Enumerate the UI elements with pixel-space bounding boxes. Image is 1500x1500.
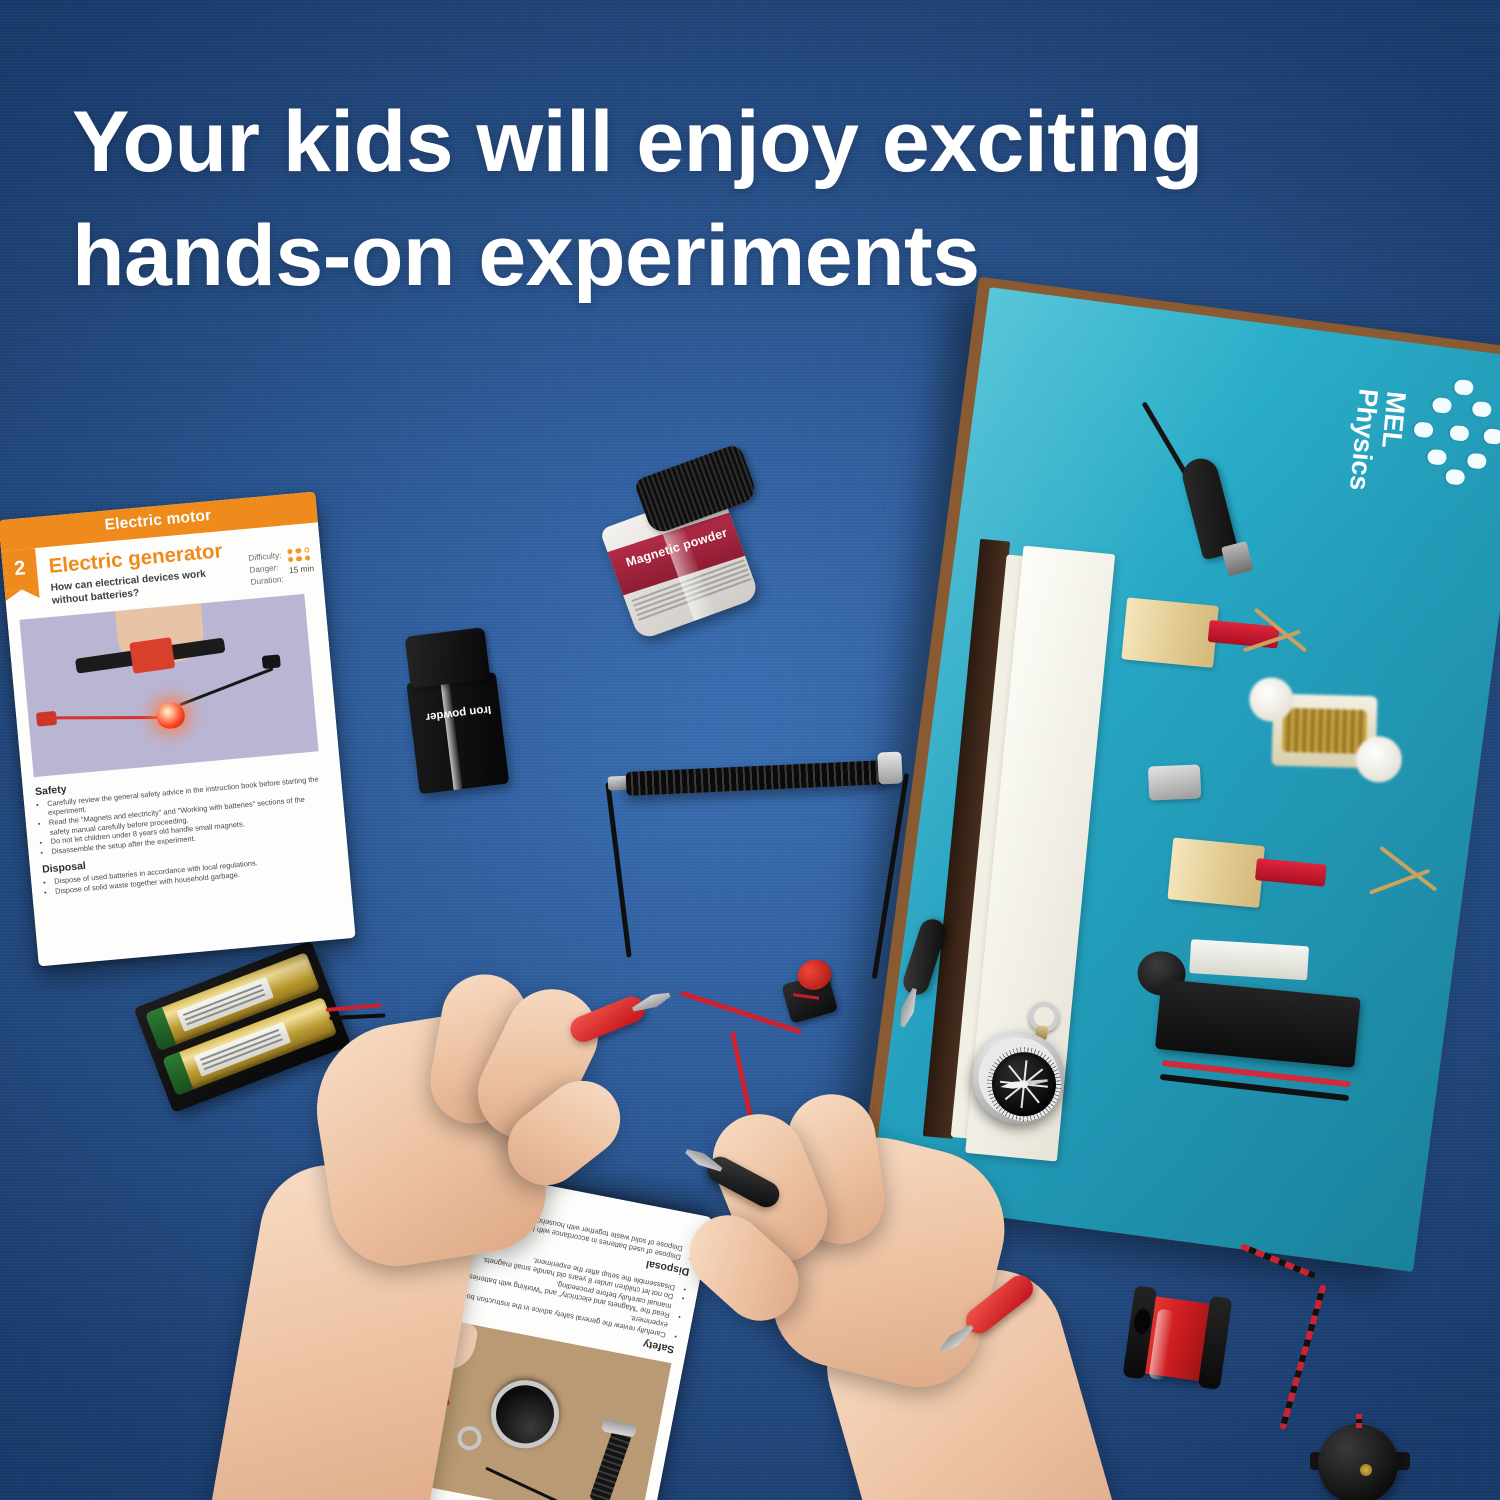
iron-powder-bottle: Iron powder	[399, 624, 534, 797]
iron-bottle-gloss	[434, 672, 469, 794]
headline-line-2: hands-on experiments	[72, 200, 1402, 314]
photo-black-wire	[179, 667, 273, 706]
iron-label-line-1: Iron	[469, 703, 492, 718]
right-hand	[700, 1090, 1100, 1500]
rotor-copper-coil	[1282, 708, 1367, 754]
rotor-disc-2	[1355, 736, 1402, 783]
bolt-head	[877, 751, 902, 784]
card2-difficulty-dots	[287, 547, 313, 555]
spool-hole	[1133, 1308, 1152, 1336]
iron-bottle-label: Iron powder	[418, 702, 499, 724]
red-wire-spool	[1122, 1285, 1239, 1397]
buzzer-twisted-leads	[1356, 1414, 1362, 1428]
photo-red-wire	[49, 716, 167, 719]
product-photo-scene: Your kids will enjoy exciting hands-on e…	[0, 0, 1500, 1500]
box-battery-label	[1189, 939, 1309, 980]
headline-line-1: Your kids will enjoy exciting	[72, 86, 1402, 200]
card2-photo	[19, 594, 318, 777]
box-wooden-block-1	[1121, 597, 1219, 668]
buzzer-sound-port	[1360, 1464, 1372, 1476]
photo-black-connector	[262, 654, 281, 669]
mel-logo: MEL Physics	[1290, 377, 1500, 575]
card2-number-flag: 2	[1, 548, 38, 591]
iron-bottle-cap	[405, 627, 491, 688]
mel-dot-pattern-icon	[1413, 388, 1500, 482]
card2-body: 2 Electric generator How can electrical …	[1, 522, 350, 906]
page-title: Your kids will enjoy exciting hands-on e…	[72, 86, 1402, 313]
bolt-wire-winding	[626, 760, 889, 796]
card2-danger-dots	[288, 555, 314, 563]
piezo-buzzer	[1310, 1418, 1414, 1500]
instruction-card-electric-generator[interactable]: Electric motor 2 Electric generator How …	[0, 492, 356, 967]
buzzer-lead-wire	[1279, 1284, 1326, 1430]
box-wooden-block-2	[1167, 837, 1265, 908]
card2-duration-label: Duration:	[250, 574, 284, 589]
mel-wordmark: MEL Physics	[1345, 387, 1411, 494]
box-spinning-rotor	[1251, 671, 1404, 793]
card2-meta: Difficulty: Danger: Duration: 15 min	[248, 547, 315, 588]
buzzer-body	[1318, 1424, 1398, 1500]
iron-bottle-body: Iron powder	[406, 672, 509, 794]
magnetic-powder-jar: Magnetic powder	[592, 454, 775, 640]
photo-red-magnet	[129, 637, 175, 674]
left-hand	[240, 960, 660, 1500]
card2-duration-value: 15 min	[288, 563, 314, 575]
box-metal-clip	[1148, 764, 1201, 800]
